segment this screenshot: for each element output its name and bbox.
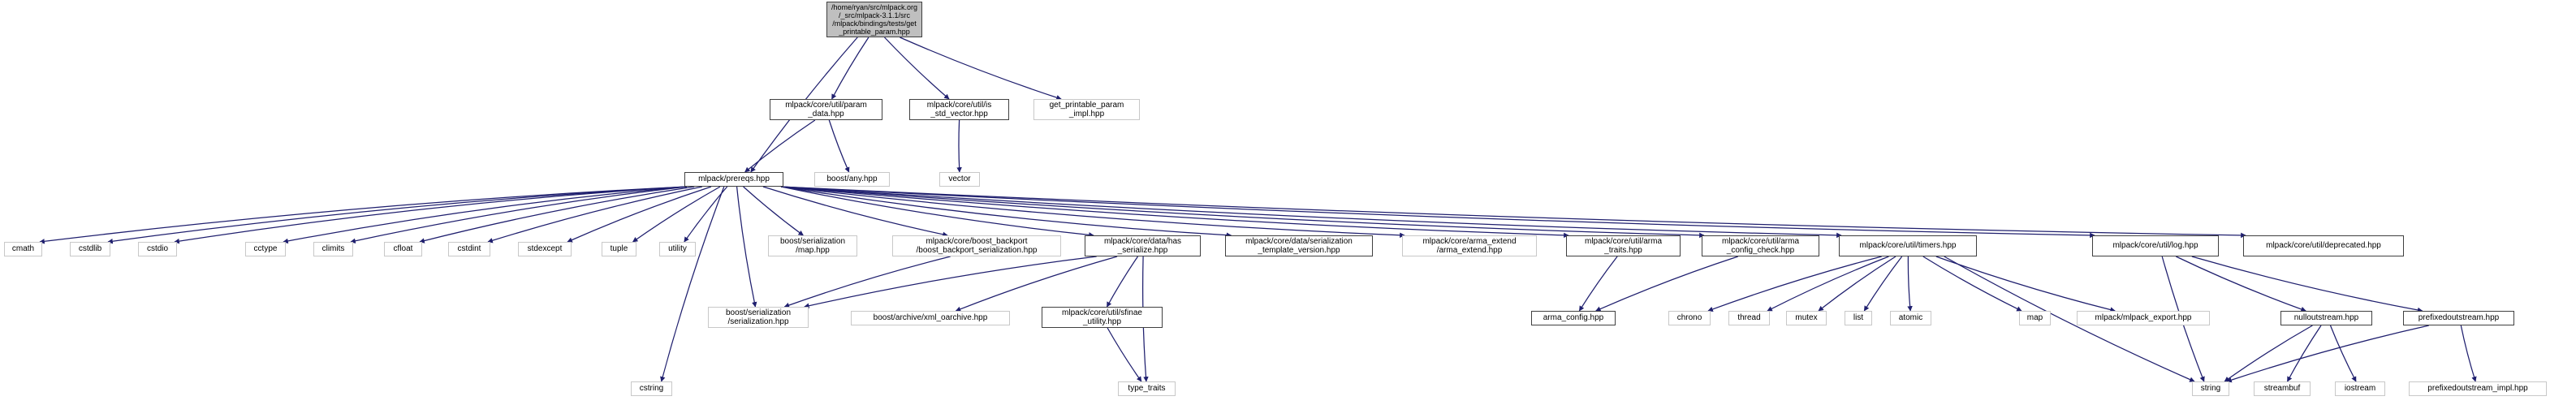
edge-root-to-get_printable_param_impl: [900, 37, 1061, 99]
edge-prereqs-to-cstring: [662, 187, 724, 381]
edge-timers-to-atomic: [1908, 256, 1910, 311]
edge-prereqs-to-boost_backport_ser: [763, 187, 947, 235]
edge-prereqs-to-cfloat: [420, 187, 694, 242]
graph-node-cstring[interactable]: cstring: [631, 381, 672, 396]
graph-node-arma_extend[interactable]: mlpack/core/arma_extend /arma_extend.hpp: [1402, 235, 1537, 256]
edge-arma_traits-to-arma_config: [1579, 256, 1617, 311]
graph-node-type_traits[interactable]: type_traits: [1118, 381, 1176, 396]
edge-prereqs-to-boost_ser_ser: [737, 187, 756, 307]
graph-node-prereqs[interactable]: mlpack/prereqs.hpp: [684, 172, 783, 187]
edge-nulloutstream-to-iostream: [2331, 325, 2357, 381]
edge-timers-to-thread: [1767, 256, 1889, 311]
graph-node-log[interactable]: mlpack/core/util/log.hpp: [2092, 235, 2219, 256]
edge-boost_backport_ser-to-boost_ser_ser: [784, 256, 950, 307]
edge-prereqs-to-utility: [684, 187, 727, 242]
edge-timers-to-map: [1923, 256, 2022, 311]
graph-node-stdexcept[interactable]: stdexcept: [518, 242, 572, 256]
edge-root-to-param_data: [832, 37, 869, 99]
edge-timers-to-chrono: [1708, 256, 1882, 311]
graph-node-get_printable_param_impl[interactable]: get_printable_param _impl.hpp: [1033, 99, 1140, 120]
graph-node-cfloat[interactable]: cfloat: [384, 242, 422, 256]
edge-prereqs-to-cctype: [283, 187, 687, 242]
graph-node-mlpack_export[interactable]: mlpack/mlpack_export.hpp: [2077, 311, 2210, 325]
graph-node-timers[interactable]: mlpack/core/util/timers.hpp: [1839, 235, 1977, 256]
graph-node-streambuf[interactable]: streambuf: [2254, 381, 2311, 396]
edge-has_serialize-to-sfinae_utility: [1107, 256, 1138, 307]
graph-node-arma_config_check[interactable]: mlpack/core/util/arma _config_check.hpp: [1702, 235, 1819, 256]
edge-prereqs-to-tuple: [633, 187, 721, 242]
graph-node-map[interactable]: map: [2019, 311, 2051, 325]
edge-param_data-to-prereqs: [745, 120, 815, 172]
edge-prereqs-to-arma_extend: [781, 187, 1405, 235]
edge-timers-to-list: [1864, 256, 1901, 311]
edge-prereqs-to-cmath: [40, 187, 687, 242]
graph-node-list[interactable]: list: [1845, 311, 1872, 325]
graph-node-arma_traits[interactable]: mlpack/core/util/arma _traits.hpp: [1566, 235, 1681, 256]
graph-node-thread[interactable]: thread: [1728, 311, 1770, 325]
edge-timers-to-mutex: [1819, 256, 1896, 311]
graph-node-boost_ser_ser[interactable]: boost/serialization /serialization.hpp: [708, 307, 809, 328]
edge-param_data-to-boost_any: [829, 120, 848, 172]
edge-prereqs-to-arma_traits: [781, 187, 1568, 235]
edge-prereqs-to-boost_ser_map: [744, 187, 804, 235]
graph-node-deprecated[interactable]: mlpack/core/util/deprecated.hpp: [2243, 235, 2404, 256]
graph-node-xml_oarchive[interactable]: boost/archive/xml_oarchive.hpp: [851, 311, 1010, 325]
edge-prereqs-to-climits: [351, 187, 687, 242]
edge-prereqs-to-timers: [781, 187, 1841, 235]
graph-node-iostream[interactable]: iostream: [2335, 381, 2385, 396]
edge-prereqs-to-log: [781, 187, 2095, 235]
graph-node-ser_template_version[interactable]: mlpack/core/data/serialization _template…: [1225, 235, 1373, 256]
graph-node-cstdlib[interactable]: cstdlib: [70, 242, 110, 256]
graph-node-root[interactable]: /home/ryan/src/mlpack.org /_src/mlpack-3…: [826, 2, 922, 37]
edge-prereqs-to-deprecated: [781, 187, 2246, 235]
graph-node-has_serialize[interactable]: mlpack/core/data/has _serialize.hpp: [1085, 235, 1201, 256]
edge-timers-to-mlpack_export: [1936, 256, 2115, 311]
edge-sfinae_utility-to-type_traits: [1107, 328, 1141, 381]
edge-prereqs-to-arma_config_check: [781, 187, 1704, 235]
graph-node-mutex[interactable]: mutex: [1786, 311, 1827, 325]
edge-prereqs-to-cstdio: [175, 187, 687, 242]
edge-prefixedoutstream-to-string: [2227, 325, 2429, 381]
graph-node-boost_any[interactable]: boost/any.hpp: [814, 172, 890, 187]
graph-node-sfinae_utility[interactable]: mlpack/core/util/sfinae _utility.hpp: [1042, 307, 1163, 328]
edge-prereqs-to-ser_template_version: [781, 187, 1232, 235]
graph-node-prefixedoutstream[interactable]: prefixedoutstream.hpp: [2403, 311, 2514, 325]
graph-node-vector[interactable]: vector: [939, 172, 980, 187]
graph-node-chrono[interactable]: chrono: [1668, 311, 1711, 325]
edge-prefixedoutstream-to-prefixedoutstream_impl: [2461, 325, 2475, 381]
graph-node-cstdint[interactable]: cstdint: [448, 242, 490, 256]
edge-arma_config_check-to-arma_config: [1596, 256, 1738, 311]
edge-nulloutstream-to-streambuf: [2288, 325, 2322, 381]
graph-node-nulloutstream[interactable]: nulloutstream.hpp: [2280, 311, 2372, 325]
edge-has_serialize-to-xml_oarchive: [956, 256, 1117, 311]
edge-prereqs-to-cstdlib: [108, 187, 687, 242]
graph-node-arma_config[interactable]: arma_config.hpp: [1531, 311, 1616, 325]
edge-has_serialize-to-boost_ser_ser: [805, 256, 1097, 307]
include-dependency-graph: /home/ryan/src/mlpack.org /_src/mlpack-3…: [0, 0, 2576, 405]
edge-log-to-nulloutstream: [2176, 256, 2306, 311]
graph-node-param_data[interactable]: mlpack/core/util/param _data.hpp: [770, 99, 882, 120]
graph-node-cmath[interactable]: cmath: [4, 242, 42, 256]
graph-node-utility[interactable]: utility: [659, 242, 696, 256]
edge-nulloutstream-to-string: [2224, 325, 2312, 381]
graph-node-climits[interactable]: climits: [313, 242, 353, 256]
graph-node-string[interactable]: string: [2192, 381, 2229, 396]
graph-node-tuple[interactable]: tuple: [602, 242, 636, 256]
graph-node-is_std_vector[interactable]: mlpack/core/util/is _std_vector.hpp: [909, 99, 1009, 120]
graph-node-prefixedoutstream_impl[interactable]: prefixedoutstream_impl.hpp: [2409, 381, 2547, 396]
graph-node-boost_ser_map[interactable]: boost/serialization /map.hpp: [768, 235, 857, 256]
edge-prereqs-to-has_serialize: [781, 187, 1094, 235]
graph-node-atomic[interactable]: atomic: [1890, 311, 1931, 325]
graph-node-boost_backport_ser[interactable]: mlpack/core/boost_backport /boost_backpo…: [892, 235, 1061, 256]
graph-node-cctype[interactable]: cctype: [245, 242, 286, 256]
graph-edges: [0, 0, 2576, 405]
edge-prereqs-to-stdexcept: [567, 187, 711, 242]
edge-is_std_vector-to-vector: [959, 120, 960, 172]
edge-log-to-prefixedoutstream: [2192, 256, 2423, 311]
edge-root-to-is_std_vector: [885, 37, 950, 99]
graph-node-cstdio[interactable]: cstdio: [138, 242, 177, 256]
edge-prereqs-to-cstdint: [488, 187, 702, 242]
